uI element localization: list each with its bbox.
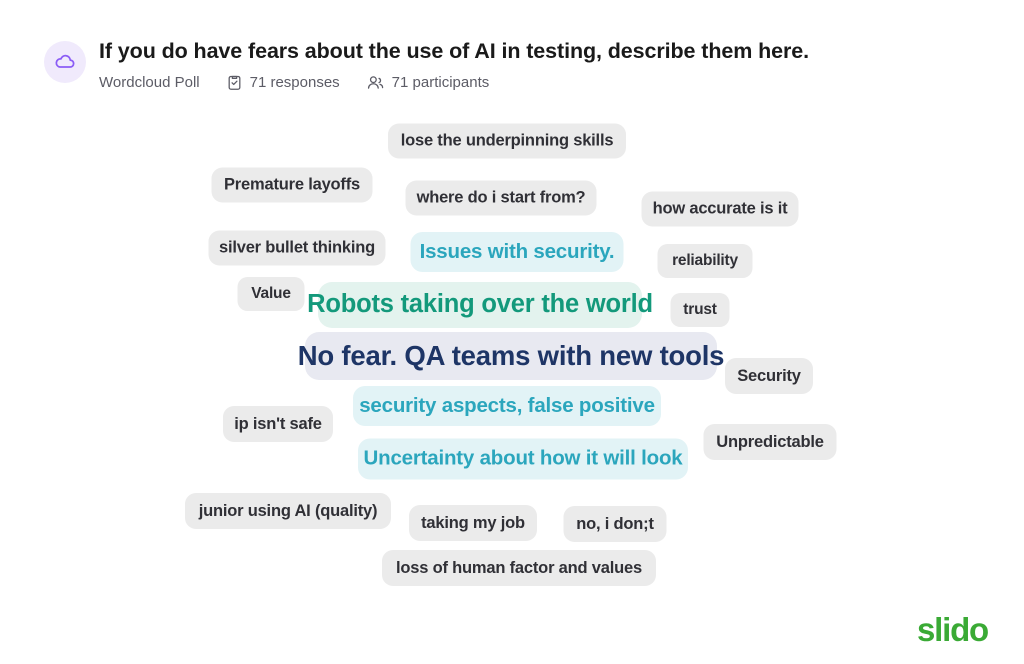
wordcloud-word[interactable]: taking my job (409, 505, 537, 541)
wordcloud-word[interactable]: ip isn't safe (223, 406, 333, 442)
wordcloud-word[interactable]: loss of human factor and values (382, 550, 656, 586)
wordcloud-word[interactable]: No fear. QA teams with new tools (305, 332, 717, 380)
wordcloud-word[interactable]: how accurate is it (642, 192, 799, 227)
wordcloud-word[interactable]: silver bullet thinking (209, 231, 386, 266)
wordcloud-word[interactable]: where do i start from? (406, 181, 597, 216)
wordcloud-word[interactable]: lose the underpinning skills (388, 124, 626, 159)
wordcloud-word[interactable]: reliability (658, 244, 753, 278)
wordcloud-poll-screen: If you do have fears about the use of AI… (0, 0, 1024, 664)
wordcloud-word[interactable]: security aspects, false positive (353, 386, 661, 426)
wordcloud-word[interactable]: Uncertainty about how it will look (358, 439, 688, 480)
wordcloud-word[interactable]: Robots taking over the world (318, 282, 642, 328)
wordcloud-word[interactable]: Unpredictable (704, 424, 837, 460)
wordcloud-word[interactable]: Issues with security. (411, 232, 624, 272)
wordcloud-canvas: lose the underpinning skillsPremature la… (0, 0, 1024, 600)
wordcloud-word[interactable]: Security (725, 358, 813, 394)
wordcloud-word[interactable]: trust (671, 293, 730, 327)
slido-logo: slido (917, 613, 988, 646)
wordcloud-word[interactable]: Premature layoffs (212, 168, 373, 203)
wordcloud-word[interactable]: Value (238, 277, 305, 311)
wordcloud-word[interactable]: no, i don;t (564, 506, 667, 542)
wordcloud-word[interactable]: junior using AI (quality) (185, 493, 391, 529)
